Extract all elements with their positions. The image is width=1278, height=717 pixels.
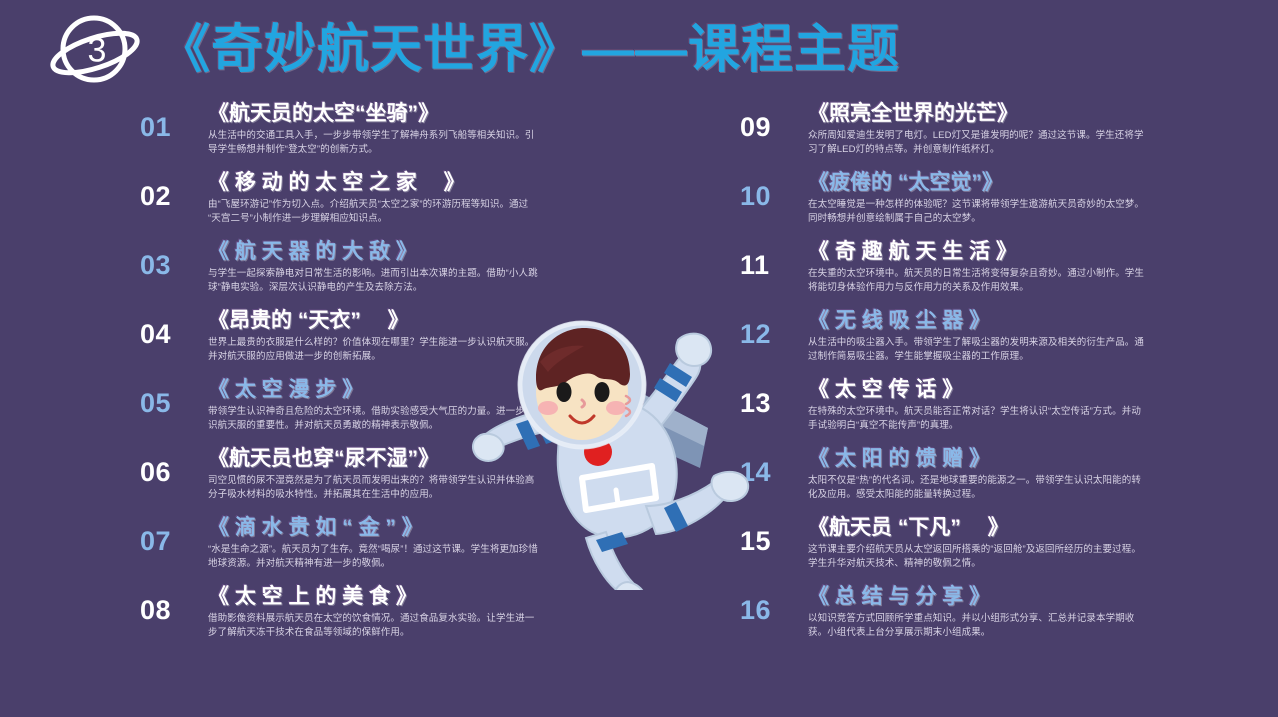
item-title: 《 移 动 的 太 空 之 家 》 [208, 170, 740, 196]
item-number: 15 [740, 514, 802, 555]
item-description: 在特殊的太空环境中。航天员能否正常对话？学生将认识“太空传话”方式。并动手试验明… [808, 405, 1148, 433]
item-description: “水是生命之源”。航天员为了生存。竟然“喝尿”！通过这节课。学生将更加珍惜地球资… [208, 543, 538, 571]
item-number: 08 [140, 583, 202, 624]
list-item[interactable]: 16 《 总 结 与 分 享 》 以知识竞答方式回顾所学重点知识。并以小组形式分… [740, 583, 1278, 652]
list-item[interactable]: 03 《 航 天 器 的 大 敌 》 与学生一起探索静电对日常生活的影响。进而引… [140, 238, 740, 307]
item-number: 05 [140, 376, 202, 417]
item-number: 12 [740, 307, 802, 348]
course-topics-grid: 01 《航天员的太空“坐骑”》 从生活中的交通工具入手，一步步带领学生了解神舟系… [0, 100, 1278, 717]
slide-root: 3 《奇妙航天世界》——课程主题 01 《航天员的太空“坐骑”》 从生活中的交通… [0, 0, 1278, 717]
item-description: 在失重的太空环境中。航天员的日常生活将变得复杂且奇妙。通过小制作。学生将能切身体… [808, 267, 1148, 295]
item-number: 13 [740, 376, 802, 417]
item-title: 《 太 空 传 话 》 [808, 377, 1278, 403]
list-item[interactable]: 07 《 滴 水 贵 如 “ 金 ” 》 “水是生命之源”。航天员为了生存。竟然… [140, 514, 740, 583]
list-item[interactable]: 02 《 移 动 的 太 空 之 家 》 由“飞屋环游记”作为切入点。介绍航天员… [140, 169, 740, 238]
item-description: 这节课主要介绍航天员从太空返回所搭乘的“返回舱”及返回所经历的主要过程。学生升华… [808, 543, 1148, 571]
item-description: 从生活中的吸尘器入手。带领学生了解吸尘器的发明来源及相关的衍生产品。通过制作简易… [808, 336, 1148, 364]
item-title: 《疲倦的 “太空觉”》 [808, 170, 1278, 196]
item-title: 《昂贵的 “天衣” 》 [208, 308, 740, 334]
item-number: 14 [740, 445, 802, 486]
item-title: 《 奇 趣 航 天 生 活 》 [808, 239, 1278, 265]
course-list-right: 09 《照亮全世界的光芒》 众所周知爱迪生发明了电灯。LED灯又是谁发明的呢？通… [740, 100, 1278, 717]
item-number: 03 [140, 238, 202, 279]
item-number: 10 [740, 169, 802, 210]
item-title: 《 航 天 器 的 大 敌 》 [208, 239, 740, 265]
list-item[interactable]: 08 《 太 空 上 的 美 食 》 借助影像资料展示航天员在太空的饮食情况。通… [140, 583, 740, 652]
item-description: 众所周知爱迪生发明了电灯。LED灯又是谁发明的呢？通过这节课。学生还将学习了解L… [808, 129, 1148, 157]
list-item[interactable]: 13 《 太 空 传 话 》 在特殊的太空环境中。航天员能否正常对话？学生将认识… [740, 376, 1278, 445]
item-number: 01 [140, 100, 202, 141]
item-title: 《 滴 水 贵 如 “ 金 ” 》 [208, 515, 740, 541]
item-title: 《 太 空 上 的 美 食 》 [208, 584, 740, 610]
item-title: 《 无 线 吸 尘 器 》 [808, 308, 1278, 334]
item-number: 07 [140, 514, 202, 555]
item-number: 04 [140, 307, 202, 348]
item-title: 《 太 阳 的 馈 赠 》 [808, 446, 1278, 472]
list-item[interactable]: 01 《航天员的太空“坐骑”》 从生活中的交通工具入手，一步步带领学生了解神舟系… [140, 100, 740, 169]
item-description: 太阳不仅是“热”的代名词。还是地球重要的能源之一。带领学生认识太阳能的转化及应用… [808, 474, 1148, 502]
badge-number: 3 [48, 33, 144, 67]
item-description: 与学生一起探索静电对日常生活的影响。进而引出本次课的主题。借助“小人跳球”静电实… [208, 267, 538, 295]
item-number: 16 [740, 583, 802, 624]
item-description: 司空见惯的尿不湿竟然是为了航天员而发明出来的？将带领学生认识并体验高分子吸水材料… [208, 474, 538, 502]
list-item[interactable]: 06 《航天员也穿“尿不湿”》 司空见惯的尿不湿竟然是为了航天员而发明出来的？将… [140, 445, 740, 514]
item-number: 02 [140, 169, 202, 210]
item-title: 《航天员的太空“坐骑”》 [208, 101, 740, 127]
list-item[interactable]: 04 《昂贵的 “天衣” 》 世界上最贵的衣服是什么样的？价值体现在哪里？学生能… [140, 307, 740, 376]
item-number: 11 [740, 238, 802, 279]
planet-icon: 3 [48, 8, 144, 94]
list-item[interactable]: 11 《 奇 趣 航 天 生 活 》 在失重的太空环境中。航天员的日常生活将变得… [740, 238, 1278, 307]
page-title: 《奇妙航天世界》——课程主题 [158, 24, 900, 76]
slide-header: 3 《奇妙航天世界》——课程主题 [0, 0, 1278, 100]
item-description: 由“飞屋环游记”作为切入点。介绍航天员“太空之家”的环游历程等知识。通过“天宫二… [208, 198, 538, 226]
list-item[interactable]: 09 《照亮全世界的光芒》 众所周知爱迪生发明了电灯。LED灯又是谁发明的呢？通… [740, 100, 1278, 169]
item-description: 带领学生认识神奇且危险的太空环境。借助实验感受大气压的力量。进一步认识航天服的重… [208, 405, 538, 433]
course-list-left: 01 《航天员的太空“坐骑”》 从生活中的交通工具入手，一步步带领学生了解神舟系… [140, 100, 740, 717]
item-description: 从生活中的交通工具入手，一步步带领学生了解神舟系列飞船等相关知识。引导学生畅想并… [208, 129, 538, 157]
item-description: 借助影像资料展示航天员在太空的饮食情况。通过食品复水实验。让学生进一步了解航天冻… [208, 612, 538, 640]
item-title: 《 总 结 与 分 享 》 [808, 584, 1278, 610]
item-title: 《照亮全世界的光芒》 [808, 101, 1278, 127]
item-description: 以知识竞答方式回顾所学重点知识。并以小组形式分享、汇总并记录本学期收获。小组代表… [808, 612, 1148, 640]
list-item[interactable]: 10 《疲倦的 “太空觉”》 在太空睡觉是一种怎样的体验呢？这节课将带领学生遨游… [740, 169, 1278, 238]
item-title: 《 太 空 漫 步 》 [208, 377, 740, 403]
item-number: 06 [140, 445, 202, 486]
item-title: 《航天员 “下凡” 》 [808, 515, 1278, 541]
list-item[interactable]: 15 《航天员 “下凡” 》 这节课主要介绍航天员从太空返回所搭乘的“返回舱”及… [740, 514, 1278, 583]
item-title: 《航天员也穿“尿不湿”》 [208, 446, 740, 472]
item-description: 在太空睡觉是一种怎样的体验呢？这节课将带领学生遨游航天员奇妙的太空梦。同时畅想并… [808, 198, 1148, 226]
list-item[interactable]: 14 《 太 阳 的 馈 赠 》 太阳不仅是“热”的代名词。还是地球重要的能源之… [740, 445, 1278, 514]
item-description: 世界上最贵的衣服是什么样的？价值体现在哪里？学生能进一步认识航天服。并对航天服的… [208, 336, 538, 364]
list-item[interactable]: 12 《 无 线 吸 尘 器 》 从生活中的吸尘器入手。带领学生了解吸尘器的发明… [740, 307, 1278, 376]
item-number: 09 [740, 100, 802, 141]
list-item[interactable]: 05 《 太 空 漫 步 》 带领学生认识神奇且危险的太空环境。借助实验感受大气… [140, 376, 740, 445]
